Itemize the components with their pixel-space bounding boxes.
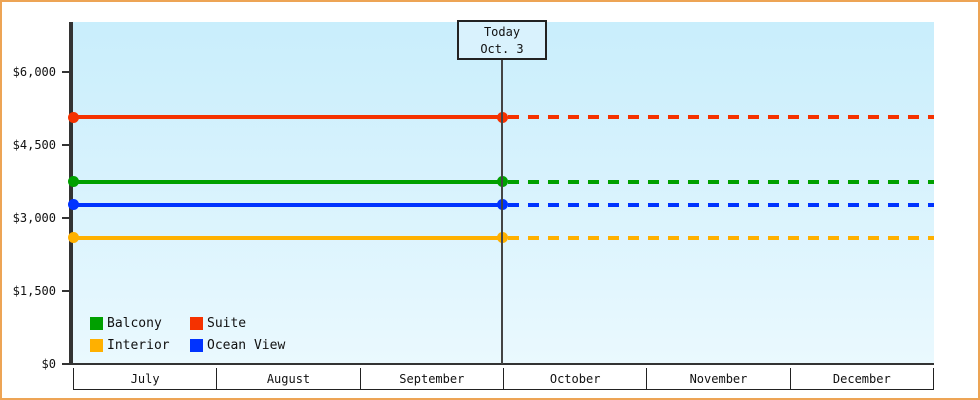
y-axis-tick-label: $4,500 [13,139,56,151]
y-axis [69,22,73,365]
series-line-solid [73,236,502,240]
today-label-line2: Oct. 3 [459,41,545,58]
legend-item-label: Balcony [107,316,162,331]
legend-item[interactable]: Balcony [90,316,190,331]
y-axis-tick-label: $6,000 [13,66,56,78]
series-line-solid [73,203,502,207]
chart-legend: BalconySuiteInteriorOcean View [90,312,285,356]
legend-item-label: Interior [107,338,170,353]
y-axis-tick [62,290,70,292]
legend-item[interactable]: Ocean View [190,338,285,353]
series-line-forecast-dashed [508,203,934,207]
month-label-july[interactable]: July [74,368,217,389]
legend-item[interactable]: Interior [90,338,190,353]
legend-item[interactable]: Suite [190,316,285,331]
y-axis-tick [62,363,70,365]
month-axis-row: JulyAugustSeptemberOctoberNovemberDecemb… [73,368,934,390]
month-label-september[interactable]: September [361,368,504,389]
series-point-start[interactable] [68,112,79,123]
month-label-november[interactable]: November [647,368,790,389]
series-line-solid [73,115,502,119]
series-line-solid [73,180,502,184]
series-line-forecast-dashed [508,115,934,119]
y-axis-tick [62,217,70,219]
y-axis-tick-label: $0 [42,358,56,370]
month-label-december[interactable]: December [791,368,933,389]
legend-item-label: Suite [207,316,246,331]
today-vertical-line [501,22,503,364]
legend-swatch-icon [190,317,203,330]
y-axis-tick [62,71,70,73]
today-label-line1: Today [459,24,545,41]
y-axis-tick-label: $3,000 [13,212,56,224]
series-line-forecast-dashed [508,180,934,184]
legend-swatch-icon [90,317,103,330]
month-label-october[interactable]: October [504,368,647,389]
price-trend-chart: $0$1,500$3,000$4,500$6,000 Today Oct. 3 … [0,0,980,400]
legend-swatch-icon [190,339,203,352]
legend-item-label: Ocean View [207,338,285,353]
today-callout: Today Oct. 3 [457,20,547,60]
legend-swatch-icon [90,339,103,352]
y-axis-tick [62,144,70,146]
y-axis-tick-label: $1,500 [13,285,56,297]
month-label-august[interactable]: August [217,368,360,389]
series-line-forecast-dashed [508,236,934,240]
